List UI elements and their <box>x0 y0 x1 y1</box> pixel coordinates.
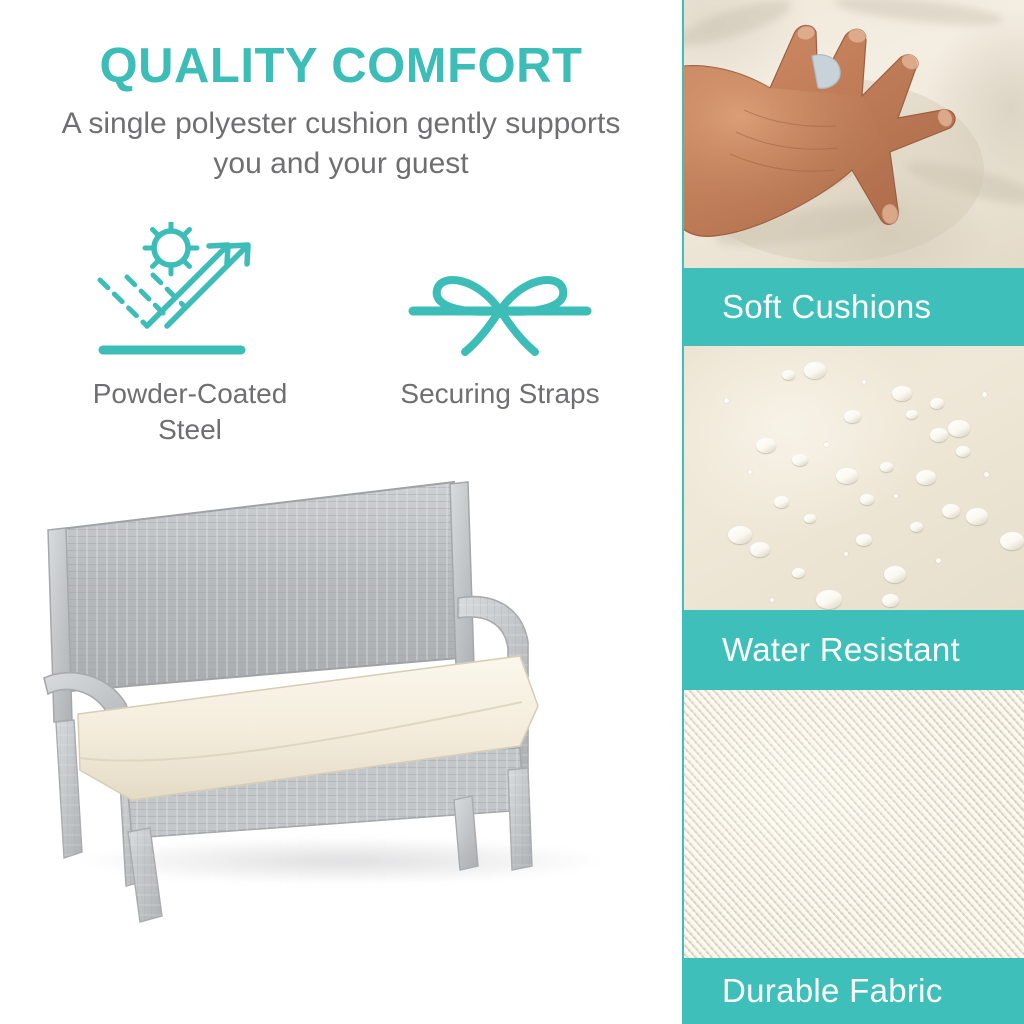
panel-caption-soft-cushions: Soft Cushions <box>684 268 1024 346</box>
feature-powder-coated-steel: Powder-Coated Steel <box>40 222 340 448</box>
panel-water-resistant <box>684 346 1024 610</box>
feature-icon-row: Powder-Coated Steel <box>40 222 650 462</box>
panel-caption-water-resistant: Water Resistant <box>684 610 1024 690</box>
product-image-gray-wicker-bench <box>22 470 662 940</box>
product-feature-graphic: QUALITY COMFORT A single polyester cushi… <box>0 0 1024 1024</box>
right-feature-panels-column: Soft Cushions <box>682 0 1024 1024</box>
feature-securing-straps: Securing Straps <box>350 222 650 412</box>
panel-soft-cushions <box>684 0 1024 268</box>
bench-backrest <box>52 482 460 692</box>
page-subtitle: A single polyester cushion gently suppor… <box>60 104 622 184</box>
panel-durable-fabric <box>684 690 1024 958</box>
feature-label: Powder-Coated Steel <box>60 376 320 448</box>
feature-label: Securing Straps <box>400 376 599 412</box>
water-beading-fabric-photo <box>684 346 1024 610</box>
sun-reflection-icon <box>95 222 285 372</box>
left-content-column: QUALITY COMFORT A single polyester cushi… <box>0 0 682 1024</box>
ribbon-bow-icon <box>405 222 595 372</box>
panel-caption-durable-fabric: Durable Fabric <box>684 958 1024 1024</box>
woven-fabric-closeup-photo <box>684 690 1024 958</box>
product-shadow <box>82 838 602 884</box>
hand-pressing-cushion-photo <box>684 0 1024 268</box>
page-title: QUALITY COMFORT <box>0 38 682 94</box>
